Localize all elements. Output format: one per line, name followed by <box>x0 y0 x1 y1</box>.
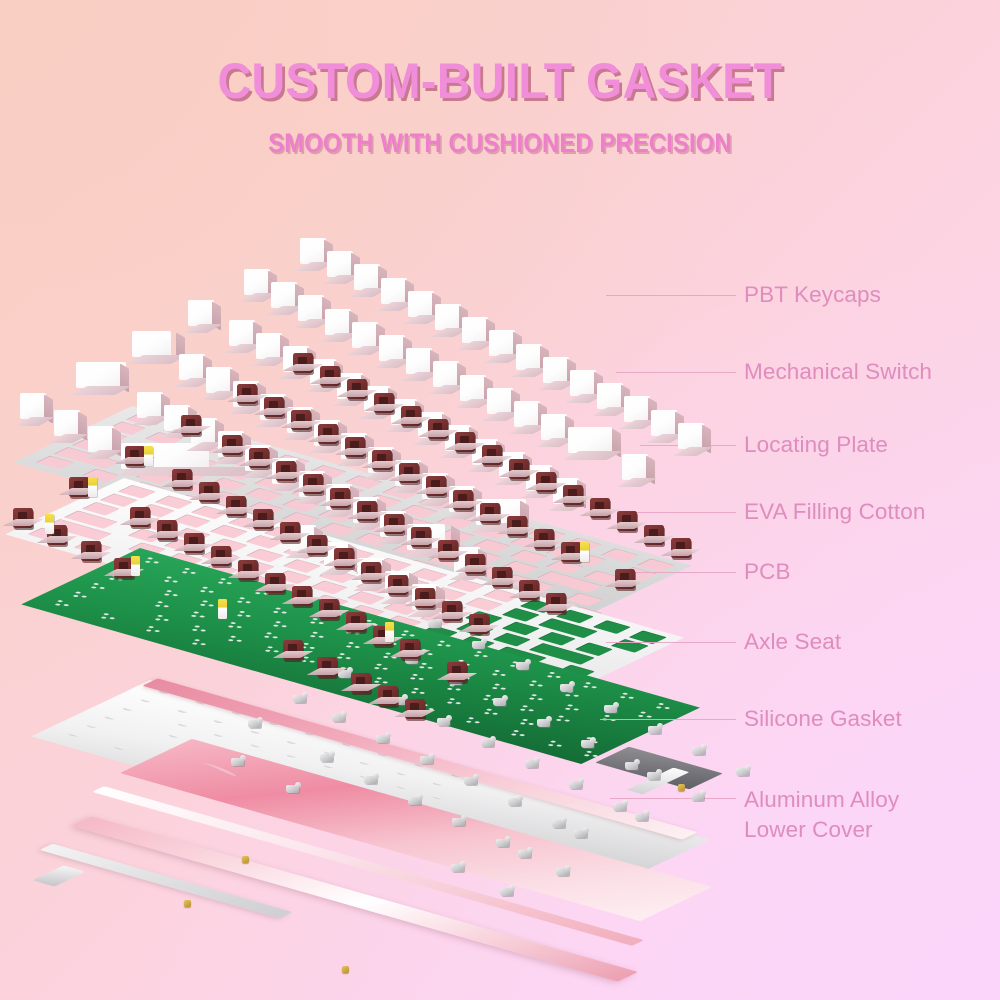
callout-pbt-keycaps: PBT Keycaps <box>606 280 881 310</box>
axle-seat <box>518 850 531 858</box>
keycap <box>137 392 163 418</box>
pcb-pad <box>147 557 153 559</box>
pcb-pad <box>492 673 498 675</box>
mechanical-switch <box>283 640 303 660</box>
mechanical-switch <box>536 472 556 492</box>
pcb-pad <box>312 631 318 633</box>
pcb-pad <box>455 702 461 704</box>
axle-seat <box>691 793 704 801</box>
pcb-pad <box>585 682 591 684</box>
gasket-bump <box>121 707 133 711</box>
pcb-pad <box>410 677 416 679</box>
leader-line <box>610 798 736 799</box>
pcb-pad <box>622 692 628 694</box>
mechanical-switch <box>249 448 269 468</box>
pcb-pad <box>228 639 234 641</box>
leader-line <box>600 719 736 720</box>
axle-seat <box>560 684 573 692</box>
mechanical-switch <box>347 379 367 399</box>
gasket-bump <box>67 733 79 737</box>
gasket-bump <box>103 716 115 720</box>
pcb-pad <box>200 643 206 645</box>
pcb-pad <box>310 635 316 637</box>
leader-line <box>606 295 736 296</box>
pcb-pad <box>281 625 287 627</box>
pcb-pad <box>528 684 534 686</box>
pcb-pad <box>157 601 163 603</box>
pcb-pad <box>100 616 106 618</box>
pcb-pad <box>208 604 214 606</box>
stabilizer <box>88 477 97 497</box>
pcb-pad <box>309 660 315 662</box>
keycap <box>570 370 596 396</box>
axle-seat <box>569 781 582 789</box>
keycap <box>516 344 542 370</box>
pcb-pad <box>340 653 346 655</box>
axle-seat <box>231 758 244 766</box>
mechanical-switch <box>519 580 539 600</box>
pcb-pad <box>184 568 190 570</box>
pcb-pad <box>200 629 206 631</box>
axle-seat <box>613 803 626 811</box>
pcb-pad <box>155 604 161 606</box>
pcb-pad <box>531 694 537 696</box>
mechanical-switch <box>211 546 231 566</box>
axle-seat <box>736 768 749 776</box>
mechanical-switch <box>509 459 529 479</box>
mechanical-switch <box>401 406 421 426</box>
gasket-bump <box>176 723 188 727</box>
mechanical-switch <box>405 699 425 719</box>
axle-seat <box>286 785 299 793</box>
mechanical-switch <box>617 511 637 531</box>
keycap <box>206 367 232 393</box>
pcb-pad <box>555 676 561 678</box>
axle-seat <box>635 813 648 821</box>
pcb-pad <box>447 688 453 690</box>
pcb-pad <box>366 620 372 622</box>
axle-seat <box>496 839 509 847</box>
pcb-pad <box>245 601 251 603</box>
mechanical-switch <box>374 393 394 413</box>
pcb-pad <box>400 633 406 635</box>
axle-seat <box>552 820 565 828</box>
mechanical-switch <box>69 477 89 497</box>
pcb-pad <box>93 583 99 585</box>
pcb-pad <box>237 614 243 616</box>
mechanical-switch <box>482 445 502 465</box>
gasket-bump <box>176 709 188 713</box>
mechanical-switch <box>13 508 33 528</box>
keycap <box>298 295 324 321</box>
pcb-pad <box>208 590 214 592</box>
axle-seat <box>472 641 485 649</box>
pcb-pad <box>354 646 360 648</box>
mechanical-switch <box>399 463 419 483</box>
pcb-pad <box>172 594 178 596</box>
pcb-pad <box>476 651 482 653</box>
axle-seat <box>464 777 477 785</box>
pcb-pad <box>376 677 382 679</box>
pcb-pad <box>619 696 625 698</box>
pcb-pad <box>410 691 416 693</box>
pcb-pad <box>519 734 525 736</box>
pcb-pad <box>419 666 425 668</box>
mechanical-switch <box>361 562 381 582</box>
axle-seat <box>481 739 494 747</box>
axle-seat <box>556 868 569 876</box>
pcb-pad <box>591 686 597 688</box>
pcb-pad <box>264 649 270 651</box>
keycap <box>327 251 353 277</box>
pcb-pad <box>449 698 455 700</box>
pcb-pad <box>166 576 172 578</box>
gasket-bump <box>249 730 261 734</box>
pcb-pad <box>427 653 433 655</box>
pcb-pad <box>455 688 461 690</box>
stabilizer <box>218 599 227 619</box>
mechanical-switch <box>469 614 489 634</box>
mechanical-switch <box>507 516 527 536</box>
axle-seat <box>420 756 433 764</box>
pcb-pad <box>473 654 479 656</box>
pcb-pad <box>567 704 573 706</box>
pcb-pad <box>465 720 471 722</box>
pcb-pad <box>409 634 415 636</box>
mechanical-switch <box>81 541 101 561</box>
mechanical-switch <box>561 542 581 562</box>
pcb-pad <box>164 593 170 595</box>
mechanical-switch <box>265 573 285 593</box>
mechanical-switch <box>411 527 431 547</box>
mechanical-switch <box>590 498 610 518</box>
pcb-pad <box>275 621 281 623</box>
pcb-pad <box>273 636 279 638</box>
mechanical-switch <box>388 575 408 595</box>
pcb-pad <box>109 617 115 619</box>
pcb-pad <box>301 660 307 662</box>
keycap <box>54 410 80 436</box>
pcb-pad <box>492 712 498 714</box>
pcb-pad <box>403 630 409 632</box>
callout-label: Aluminum Alloy Lower Cover <box>736 785 899 845</box>
pcb-pad <box>239 597 245 599</box>
stabilizer <box>45 514 54 534</box>
pcb-pad <box>318 635 324 637</box>
mechanical-switch <box>330 488 350 508</box>
axle-seat <box>376 735 389 743</box>
pcb-pad <box>427 667 433 669</box>
mechanical-switch <box>238 560 258 580</box>
pcb-pad <box>157 615 163 617</box>
pcb-pad <box>374 667 380 669</box>
pcb-pad <box>148 626 154 628</box>
pcb-pad <box>374 681 380 683</box>
mechanical-switch <box>453 490 473 510</box>
mechanical-switch <box>357 501 377 521</box>
pcb-pad <box>236 640 242 642</box>
pcb-pad <box>194 625 200 627</box>
pcb-pad <box>73 595 79 597</box>
pcb-pad <box>163 579 169 581</box>
screw-icon <box>342 966 349 973</box>
axle-seat <box>428 620 441 628</box>
mechanical-switch <box>264 397 284 417</box>
pcb-pad <box>385 652 391 654</box>
pcb-pad <box>273 624 279 626</box>
axle-seat <box>451 864 464 872</box>
stabilizer <box>144 446 153 466</box>
mechanical-switch <box>125 446 145 466</box>
axle-seat <box>574 830 587 838</box>
pcb-pad <box>154 630 160 632</box>
mechanical-switch <box>492 567 512 587</box>
mechanical-switch <box>157 520 177 540</box>
keycap <box>543 357 569 383</box>
pcb-pad <box>348 642 354 644</box>
pcb-pad <box>419 678 425 680</box>
keycap <box>406 348 432 374</box>
pcb-pad <box>354 632 360 634</box>
pcb-pad <box>513 730 519 732</box>
pcb-pad <box>303 656 309 658</box>
keycap <box>379 335 405 361</box>
mechanical-switch <box>378 686 398 706</box>
pcb-pad <box>382 681 388 683</box>
pcb-pad <box>172 580 178 582</box>
mechanical-switch <box>345 437 365 457</box>
mechanical-switch <box>318 424 338 444</box>
pcb-pad <box>565 694 571 696</box>
keycap <box>229 320 255 346</box>
pcb-pad <box>346 657 352 659</box>
pcb-pad <box>309 647 315 649</box>
stabilizer <box>131 556 140 576</box>
leader-line <box>626 572 736 573</box>
pcb-pad <box>281 611 287 613</box>
pcb-pad <box>55 603 61 605</box>
pcb-pad <box>146 629 152 631</box>
axle-seat <box>537 719 550 727</box>
pcb-pad <box>254 592 260 594</box>
pcb-pad <box>549 672 555 674</box>
mechanical-switch <box>280 522 300 542</box>
pcb-pad <box>200 604 206 606</box>
mechanical-switch <box>276 461 296 481</box>
mechanical-switch <box>438 540 458 560</box>
screw-icon <box>242 856 249 863</box>
mechanical-switch <box>372 450 392 470</box>
axle-seat <box>332 714 345 722</box>
mechanical-switch <box>546 593 566 613</box>
leader-line <box>636 512 736 513</box>
pcb-pad <box>312 618 318 620</box>
keycap <box>244 269 270 295</box>
pcb-pad <box>145 561 151 563</box>
pcb-pad <box>445 644 451 646</box>
mechanical-switch <box>615 569 635 589</box>
mechanical-switch <box>181 415 201 435</box>
pcb-pad <box>483 712 489 714</box>
pcb-pad <box>529 697 535 699</box>
cover-left-side-bar <box>39 844 292 919</box>
callout-label: Mechanical Switch <box>736 357 932 387</box>
keycap <box>76 362 126 388</box>
keycap <box>568 427 612 453</box>
pcb-pad <box>376 663 382 665</box>
keycap <box>132 331 171 357</box>
gasket-bump <box>85 724 97 728</box>
mechanical-switch <box>292 586 312 606</box>
pcb-pad <box>191 629 197 631</box>
mechanical-switch <box>222 435 242 455</box>
pcb-pad <box>500 674 506 676</box>
pcb-pad <box>63 604 69 606</box>
pcb-pad <box>537 684 543 686</box>
pcb-pad <box>573 708 579 710</box>
keycap <box>300 238 326 264</box>
pcb-pad <box>494 670 500 672</box>
pcb-pad <box>192 642 198 644</box>
pcb-pad <box>264 636 270 638</box>
mechanical-switch <box>384 514 404 534</box>
pcb-pad <box>531 680 537 682</box>
mechanical-switch <box>319 599 339 619</box>
pcb-pad <box>91 586 97 588</box>
pcb-pad <box>200 615 206 617</box>
pcb-pad <box>439 640 445 642</box>
mechanical-switch <box>226 496 246 516</box>
pcb-pad <box>81 595 87 597</box>
mechanical-switch <box>415 588 435 608</box>
pcb-pad <box>267 632 273 634</box>
keycap <box>408 291 434 317</box>
mechanical-switch <box>465 554 485 574</box>
axle-seat <box>437 718 450 726</box>
axle-seat <box>516 662 529 670</box>
keycap <box>381 278 407 304</box>
pcb-pad <box>556 719 562 721</box>
pcb-pad <box>500 687 506 689</box>
pcb-pad <box>520 708 526 710</box>
axle-seat <box>692 747 705 755</box>
keycap <box>678 423 704 449</box>
mechanical-switch <box>455 432 475 452</box>
axle-seat <box>581 740 594 748</box>
mechanical-switch <box>428 419 448 439</box>
mechanical-switch <box>303 474 323 494</box>
gasket-bump <box>213 733 225 737</box>
pcb-pad <box>559 715 565 717</box>
mechanical-switch <box>534 529 554 549</box>
keycap <box>624 396 650 422</box>
mechanical-switch <box>442 601 462 621</box>
keycap <box>188 300 214 326</box>
keycap <box>487 388 513 414</box>
keycap <box>256 333 282 359</box>
pcb-pad <box>419 692 425 694</box>
pcb-pad <box>273 611 279 613</box>
cover-left-end-cap <box>32 865 85 886</box>
mechanical-switch <box>237 384 257 404</box>
pcb-pad <box>550 740 556 742</box>
axle-seat <box>493 698 506 706</box>
pcb-pad <box>421 663 427 665</box>
mechanical-switch <box>130 507 150 527</box>
callout-label: PBT Keycaps <box>736 280 881 310</box>
mechanical-switch <box>253 509 273 529</box>
keycap <box>622 454 648 480</box>
callout-label: Axle Seat <box>736 627 841 657</box>
mechanical-switch <box>426 476 446 496</box>
keycap <box>435 304 461 330</box>
pcb-pad <box>522 719 528 721</box>
mechanical-switch <box>447 662 467 682</box>
mechanical-switch <box>346 612 366 632</box>
mechanical-switch <box>400 639 420 659</box>
keycap <box>88 426 114 452</box>
leader-line <box>606 642 736 643</box>
pcb-pad <box>413 688 419 690</box>
mechanical-switch <box>317 657 337 677</box>
keycap <box>462 317 488 343</box>
axle-seat <box>248 720 261 728</box>
pcb-pad <box>230 622 236 624</box>
pcb-pad <box>103 613 109 615</box>
pcb-pad <box>163 619 169 621</box>
pcb-pad <box>153 561 159 563</box>
screw-icon <box>678 784 685 791</box>
pcb-pad <box>528 723 534 725</box>
pcb-pad <box>413 674 419 676</box>
gasket-bump <box>139 699 151 703</box>
keycap <box>354 264 380 290</box>
pcb-pad <box>181 571 187 573</box>
pcb-pad <box>190 572 196 574</box>
mechanical-switch <box>351 673 371 693</box>
keycap <box>489 330 515 356</box>
pcb-pad <box>267 646 273 648</box>
pcb-pad <box>236 626 242 628</box>
pcb-pad <box>565 719 571 721</box>
pcb-pad <box>226 582 232 584</box>
pcb-pad <box>346 645 352 647</box>
pcb-pad <box>202 600 208 602</box>
leader-line <box>616 372 736 373</box>
callout-axle-seat: Axle Seat <box>606 627 841 657</box>
axle-seat <box>408 797 421 805</box>
keycap <box>514 401 540 427</box>
axle-seat <box>364 776 377 784</box>
pcb-pad <box>57 600 63 602</box>
pcb-pad <box>220 578 226 580</box>
pcb-pad <box>318 622 324 624</box>
callout-silicone-gasket: Silicone Gasket <box>600 704 902 734</box>
pcb-pad <box>245 615 251 617</box>
axle-seat <box>525 760 538 768</box>
pcb-pad <box>528 709 534 711</box>
mechanical-switch <box>184 533 204 553</box>
pcb-pad <box>537 698 543 700</box>
pcb-pad <box>482 655 488 657</box>
callout-label: Silicone Gasket <box>736 704 902 734</box>
gasket-bump <box>249 744 261 748</box>
keycap <box>352 322 378 348</box>
pcb-pad <box>382 667 388 669</box>
stabilizer <box>580 542 589 562</box>
pcb-pad <box>468 717 474 719</box>
pcb-pad <box>230 636 236 638</box>
